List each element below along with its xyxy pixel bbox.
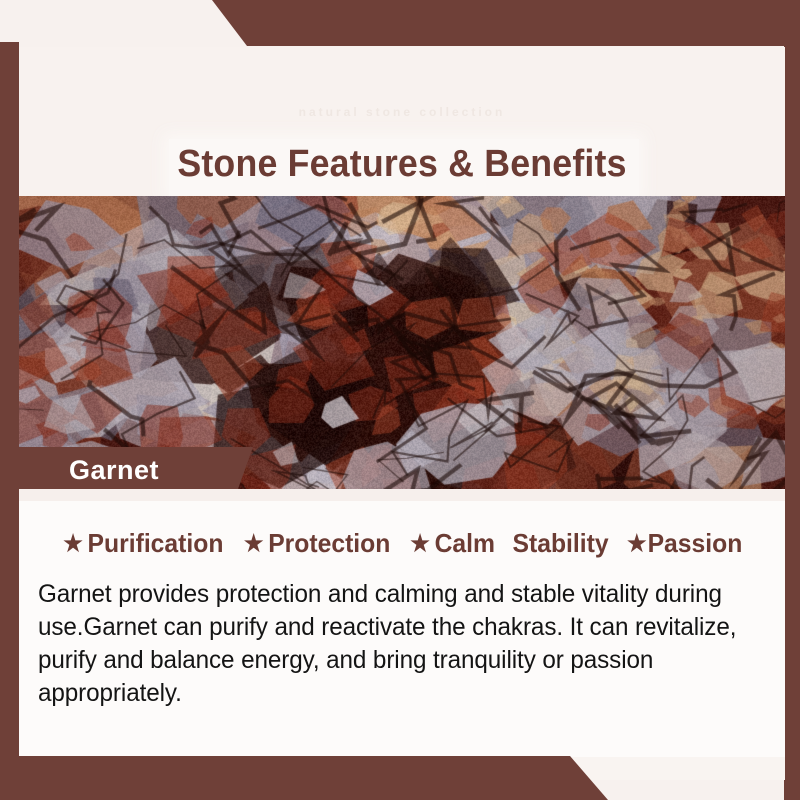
frame-right-bar (784, 0, 800, 800)
benefit-item-calm: ★Calm (410, 528, 495, 559)
description-paragraph: Garnet provides protection and calming a… (38, 578, 736, 710)
garnet-crystal-cluster-photo (0, 196, 785, 489)
benefit-label: Protection (269, 528, 391, 559)
frame-top-bar (0, 0, 800, 46)
garnet-photo-canvas (0, 196, 785, 489)
star-icon: ★ (410, 532, 430, 555)
star-icon: ★ (63, 532, 83, 555)
benefit-item-protection: ★Protection (244, 528, 390, 559)
stone-info-poster: natural stone collection Stone Features … (0, 0, 800, 800)
benefits-row: ★Purification★Protection★Calm★Stability★… (19, 528, 785, 559)
benefit-item-stability: ★Stability (512, 528, 608, 559)
benefit-label: Stability (512, 528, 608, 559)
star-icon: ★ (244, 532, 264, 555)
benefit-item-purification: ★Purification (63, 528, 223, 559)
frame-left-bar (0, 42, 19, 800)
star-icon: ★ (627, 532, 647, 555)
benefit-label: Purification (87, 528, 223, 559)
header-zone: natural stone collection Stone Features … (19, 47, 785, 196)
stone-name-label: Garnet (69, 455, 159, 486)
card-top-tint (19, 489, 785, 501)
benefit-label: Calm (434, 528, 494, 559)
page-title: Stone Features & Benefits (42, 143, 762, 186)
benefit-item-passion: ★Passion (627, 528, 742, 559)
benefit-label: Passion (647, 528, 742, 559)
background-watermark-text: natural stone collection (19, 105, 785, 119)
